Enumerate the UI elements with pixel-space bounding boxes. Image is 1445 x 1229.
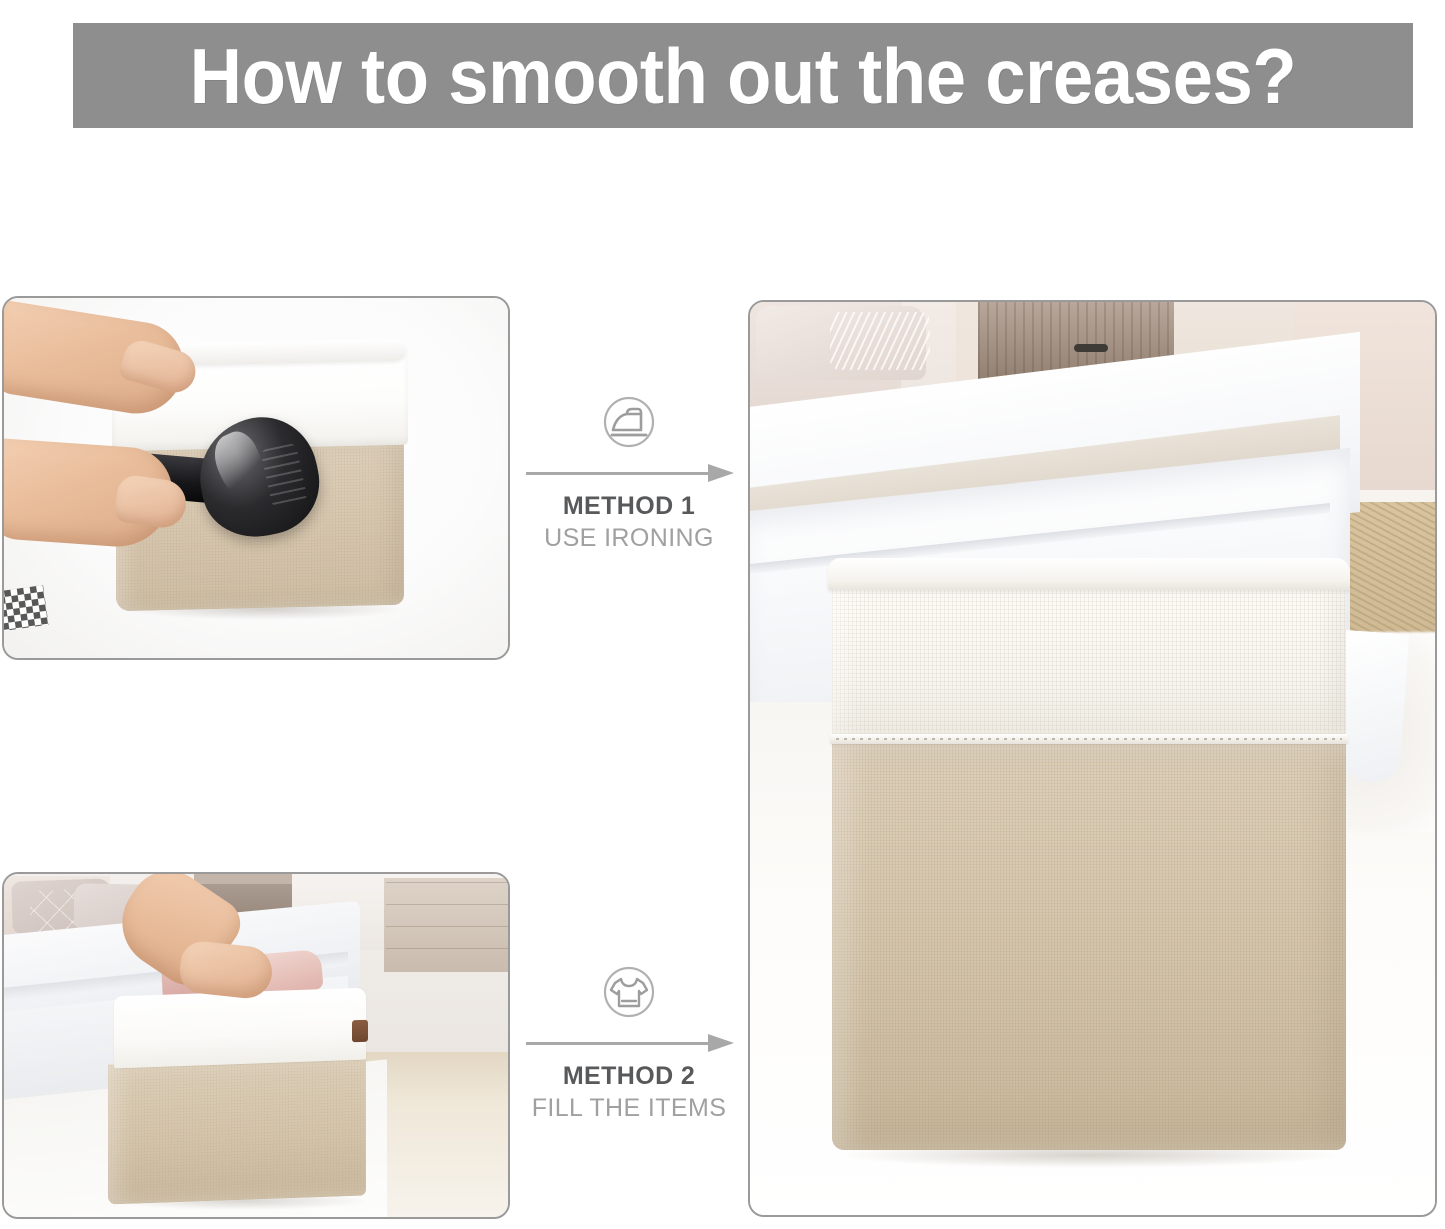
hero-basket-scene xyxy=(750,302,1435,1215)
pillow-fringe xyxy=(830,312,930,370)
arrow-right-icon xyxy=(518,1034,740,1052)
iron-icon xyxy=(596,392,662,458)
hero-basket-photo xyxy=(748,300,1437,1217)
basket-beige-body xyxy=(832,744,1346,1150)
steaming-basket-scene xyxy=(4,298,508,658)
arrow-right-icon xyxy=(518,464,740,482)
arrow-head xyxy=(708,1034,734,1052)
method-1-title: METHOD 1 xyxy=(516,492,742,521)
drawer-handle xyxy=(1074,344,1108,352)
basket-stitching xyxy=(836,738,1342,740)
arrow-line xyxy=(526,472,712,475)
filling-basket-scene xyxy=(4,874,508,1217)
method-1-block: METHOD 1 USE IRONING xyxy=(516,392,742,553)
filling-basket-photo xyxy=(2,872,510,1219)
method-2-block: METHOD 2 FILL THE ITEMS xyxy=(516,962,742,1123)
nightstand-top xyxy=(194,874,298,884)
leather-tag xyxy=(352,1020,368,1043)
method-2-subtitle: FILL THE ITEMS xyxy=(516,1093,742,1123)
method-1-subtitle: USE IRONING xyxy=(516,523,742,553)
page-title: How to smooth out the creases? xyxy=(190,37,1297,115)
basket-beige-body xyxy=(108,1055,366,1204)
dresser-drawers xyxy=(386,882,510,968)
title-banner: How to smooth out the creases? xyxy=(73,23,1413,128)
method-2-title: METHOD 2 xyxy=(516,1062,742,1091)
steaming-basket-photo xyxy=(2,296,510,660)
basket-white-band xyxy=(114,988,366,1069)
checkered-cloth xyxy=(2,585,49,631)
arrow-head xyxy=(708,464,734,482)
tshirt-icon xyxy=(596,962,662,1028)
basket-rim xyxy=(828,558,1350,590)
arrow-line xyxy=(526,1042,712,1045)
basket-white-band xyxy=(832,586,1346,738)
